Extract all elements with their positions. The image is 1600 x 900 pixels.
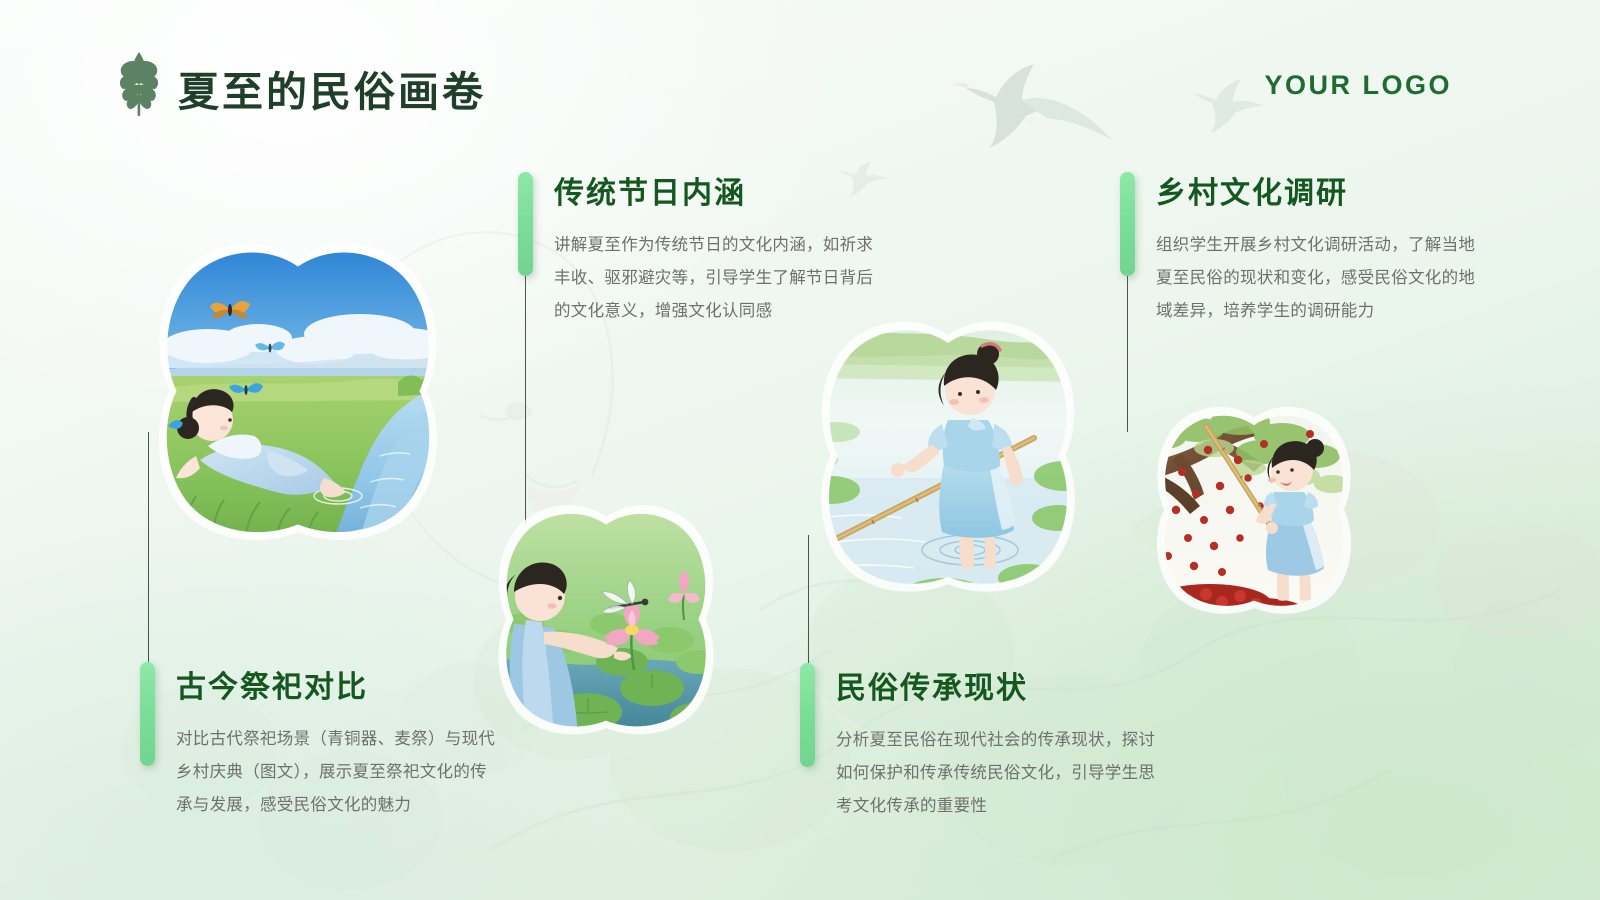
photo-girl-wading[interactable]: [812, 328, 1084, 600]
photo-girl-lotus[interactable]: [492, 512, 720, 740]
photo-girl-jujube-tree[interactable]: [1152, 414, 1356, 618]
accent-pill: [800, 663, 815, 767]
illustration-girl-wading: [812, 328, 1084, 600]
leaf-icon: [112, 50, 166, 118]
block-body: 讲解夏至作为传统节日的文化内涵，如祈求丰收、驱邪避灾等，引导学生了解节日背后的文…: [554, 228, 874, 327]
block-body: 对比古代祭祀场景（青铜器、麦祭）与现代乡村庆典（图文），展示夏至祭祀文化的传承与…: [176, 722, 496, 821]
text-block-rural-culture-research: 乡村文化调研 组织学生开展乡村文化调研活动，了解当地夏至民俗的现状和变化，感受民…: [1120, 168, 1500, 327]
illustration-girl-by-stream: [148, 250, 448, 550]
page-title: 夏至的民俗画卷: [178, 58, 486, 118]
photo-frame: [1152, 414, 1356, 618]
block-title: 民俗传承现状: [836, 663, 1180, 707]
photo-frame: [812, 328, 1084, 600]
photo-frame: [148, 250, 448, 550]
logo: YOUR LOGO: [1264, 70, 1452, 101]
text-block-traditional-festival-meaning: 传统节日内涵 讲解夏至作为传统节日的文化内涵，如祈求丰收、驱邪避灾等，引导学生了…: [518, 168, 898, 327]
connector-line-3: [808, 535, 809, 663]
photo-girl-by-stream[interactable]: [148, 250, 448, 550]
block-title: 古今祭祀对比: [176, 662, 520, 706]
text-block-folk-inheritance-status: 民俗传承现状 分析夏至民俗在现代社会的传承现状，探讨如何保护和传承传统民俗文化，…: [800, 663, 1180, 822]
accent-pill: [1120, 172, 1135, 276]
block-title: 乡村文化调研: [1156, 168, 1500, 212]
illustration-girl-jujube-tree: [1152, 414, 1356, 618]
accent-pill: [140, 662, 155, 766]
illustration-girl-lotus: [492, 512, 720, 740]
block-body: 分析夏至民俗在现代社会的传承现状，探讨如何保护和传承传统民俗文化，引导学生思考文…: [836, 723, 1156, 822]
slide-header: 夏至的民俗画卷 YOUR LOGO: [0, 0, 1600, 150]
block-title: 传统节日内涵: [554, 168, 898, 212]
accent-pill: [518, 172, 533, 276]
photo-frame: [492, 512, 720, 740]
block-body: 组织学生开展乡村文化调研活动，了解当地夏至民俗的现状和变化，感受民俗文化的地域差…: [1156, 228, 1476, 327]
slide-canvas: 夏至的民俗画卷 YOUR LOGO: [0, 0, 1600, 900]
text-block-ancient-modern-ritual-comparison: 古今祭祀对比 对比古代祭祀场景（青铜器、麦祭）与现代乡村庆典（图文），展示夏至祭…: [140, 662, 520, 821]
